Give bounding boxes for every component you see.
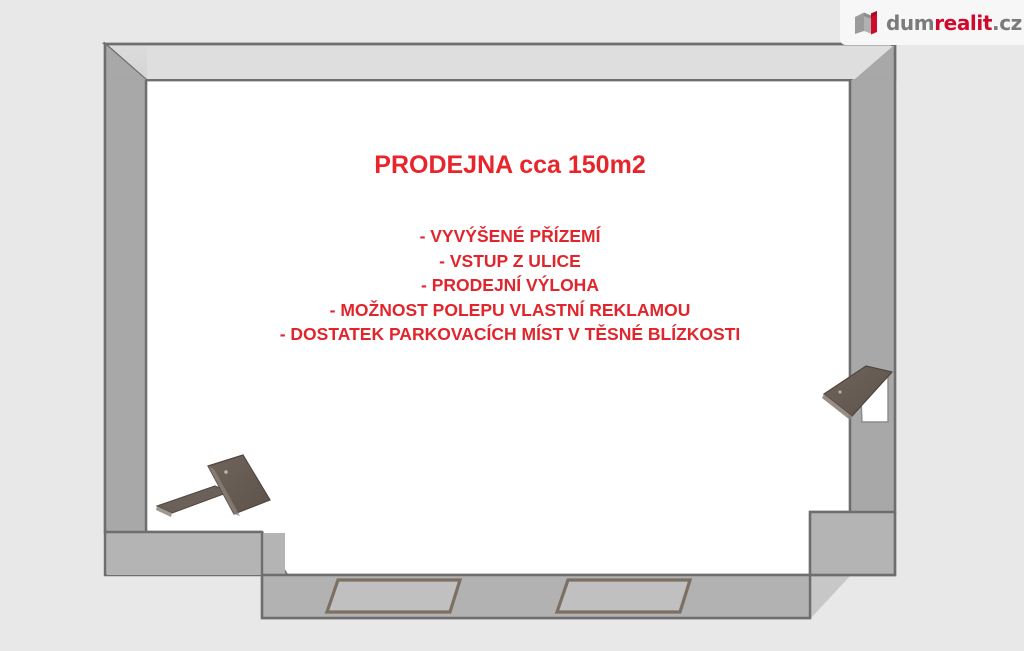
window-bottom-left [327, 580, 460, 612]
wall-top-highlight [147, 46, 893, 79]
logo-watermark[interactable]: dumrealit.cz [840, 0, 1024, 45]
logo-text: dumrealit.cz [886, 13, 1022, 33]
floorplan-drawing [0, 0, 1024, 651]
logo-text-dum: dum [886, 11, 934, 35]
house-box-icon [854, 10, 879, 36]
logo-text-realit: realit [934, 11, 992, 35]
window-bottom-right [557, 580, 690, 612]
floorplan-stage: PRODEJNA cca 150m2 - VYVÝŠENÉ PŘÍZEMÍ - … [0, 0, 1024, 651]
logo-text-cz: .cz [992, 11, 1022, 35]
